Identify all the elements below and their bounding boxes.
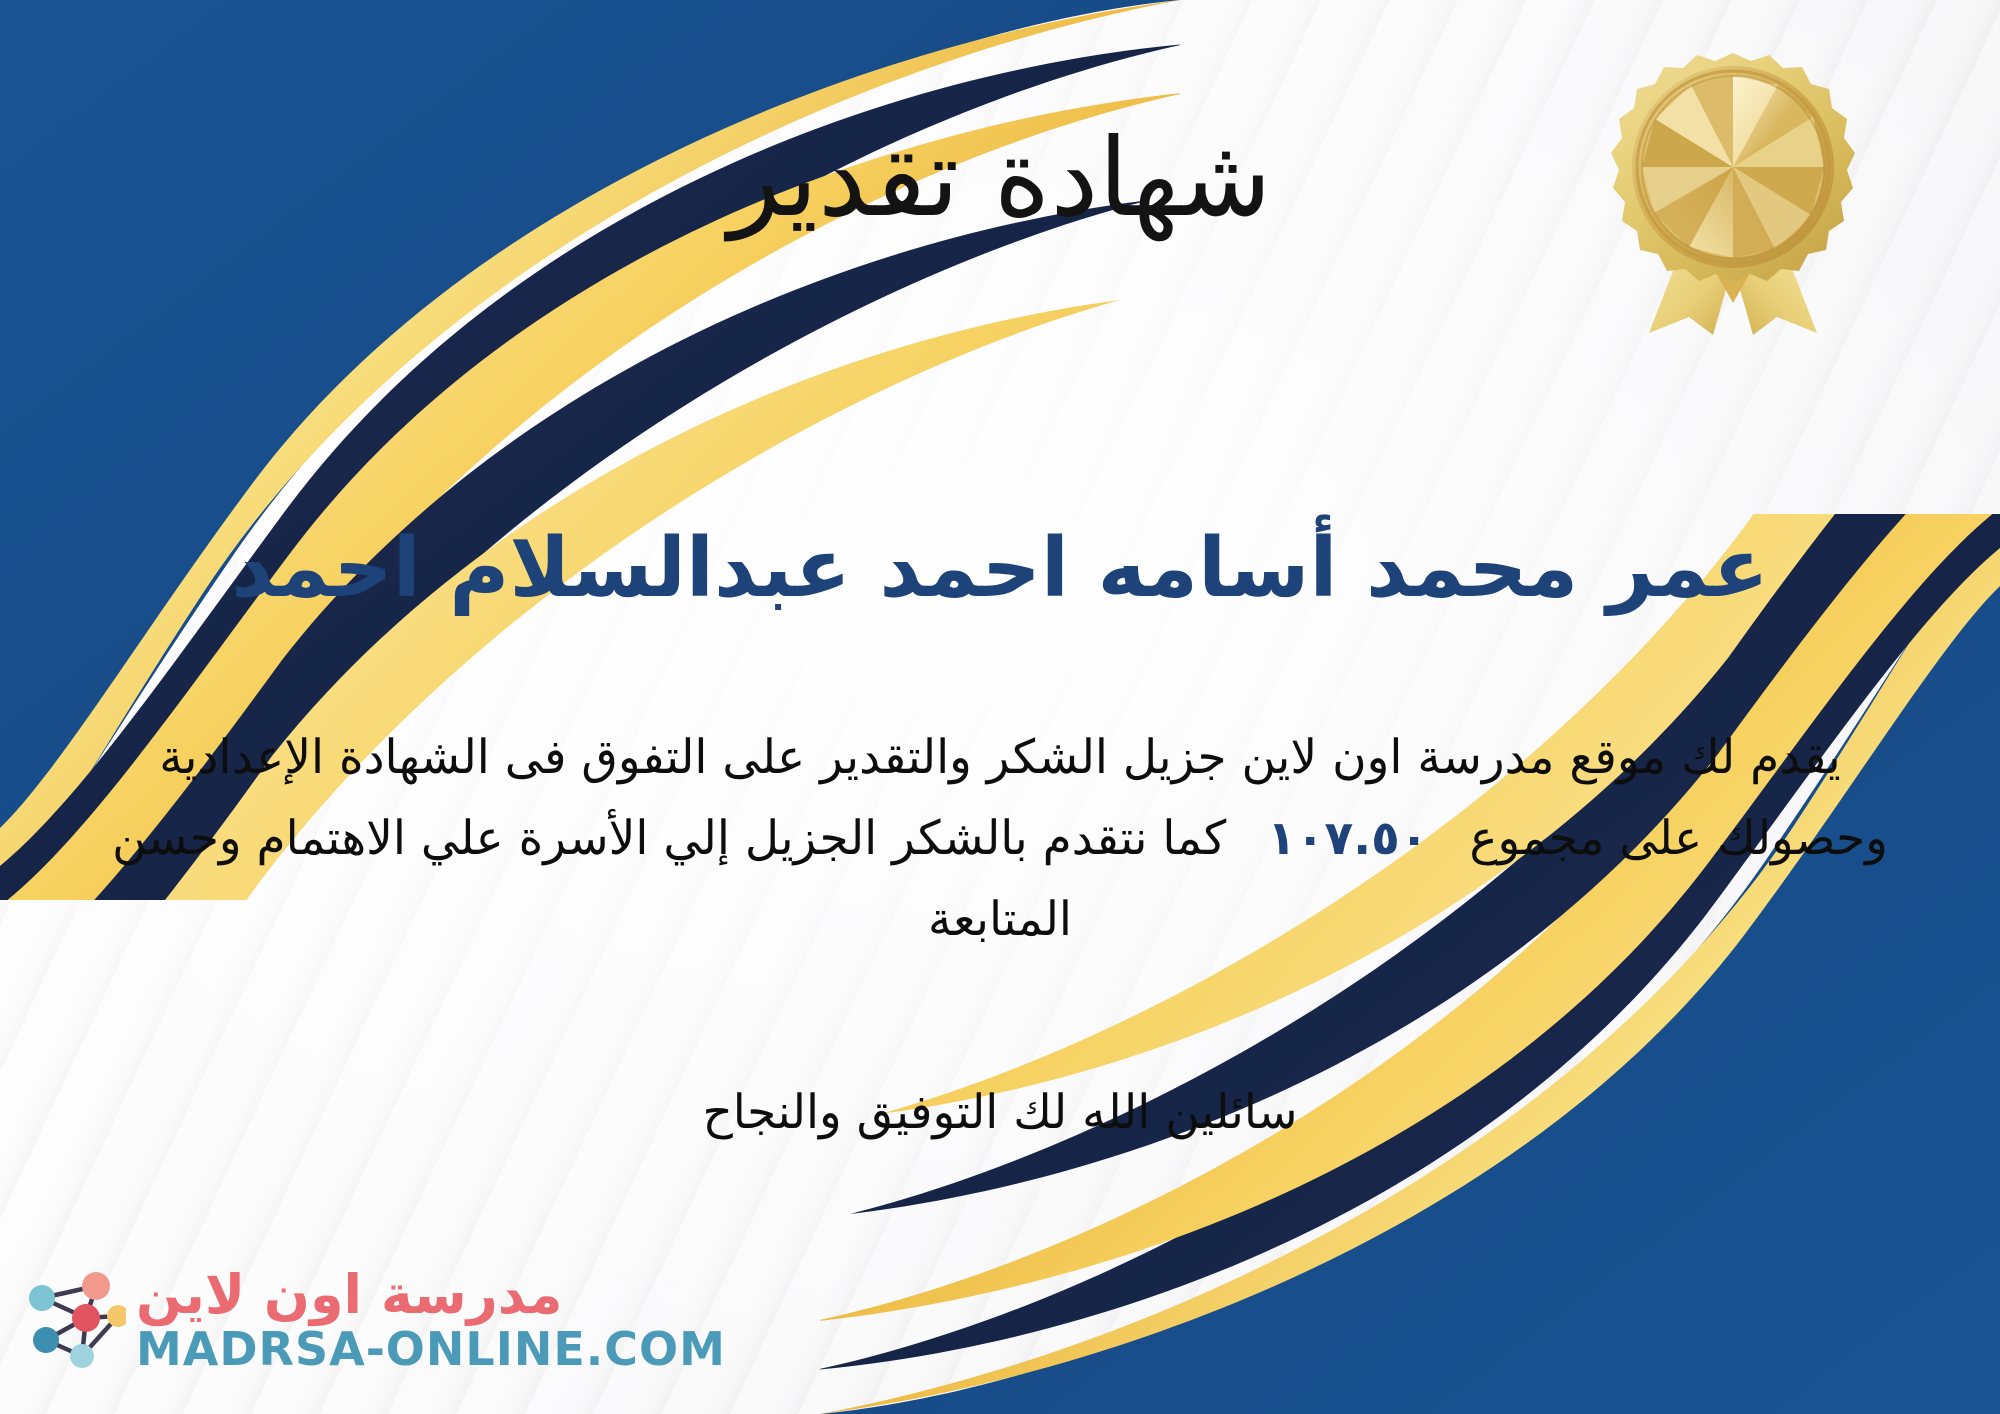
recipient-name: عمر محمد أسامه احمد عبدالسلام احمد [0, 524, 2000, 614]
closing-wish-line: سائلين الله لك التوفيق والنجاح [0, 1085, 2000, 1140]
logo-arabic-name: مدرسة اون لاين [136, 1268, 562, 1322]
logo-website-url: MADRSA-ONLINE.COM [136, 1326, 726, 1372]
body-text-part2: كما نتقدم بالشكر الجزيل إلي الأسرة علي ا… [112, 811, 1226, 947]
site-logo[interactable]: مدرسة اون لاين MADRSA-ONLINE.COM [22, 1250, 542, 1390]
body-paragraph: يقدم لك موقع مدرسة اون لاين جزيل الشكر و… [92, 718, 1908, 960]
network-nodes-icon [22, 1268, 126, 1372]
page-title: شهادة تقدير [0, 122, 2000, 235]
logo-text-group: مدرسة اون لاين MADRSA-ONLINE.COM [136, 1268, 726, 1372]
total-score-value: ١٠٧.٥٠ [1241, 811, 1454, 866]
certificate-content: شهادة تقدير عمر محمد أسامه احمد عبدالسلا… [0, 0, 2000, 1414]
certificate-page: شهادة تقدير عمر محمد أسامه احمد عبدالسلا… [0, 0, 2000, 1414]
